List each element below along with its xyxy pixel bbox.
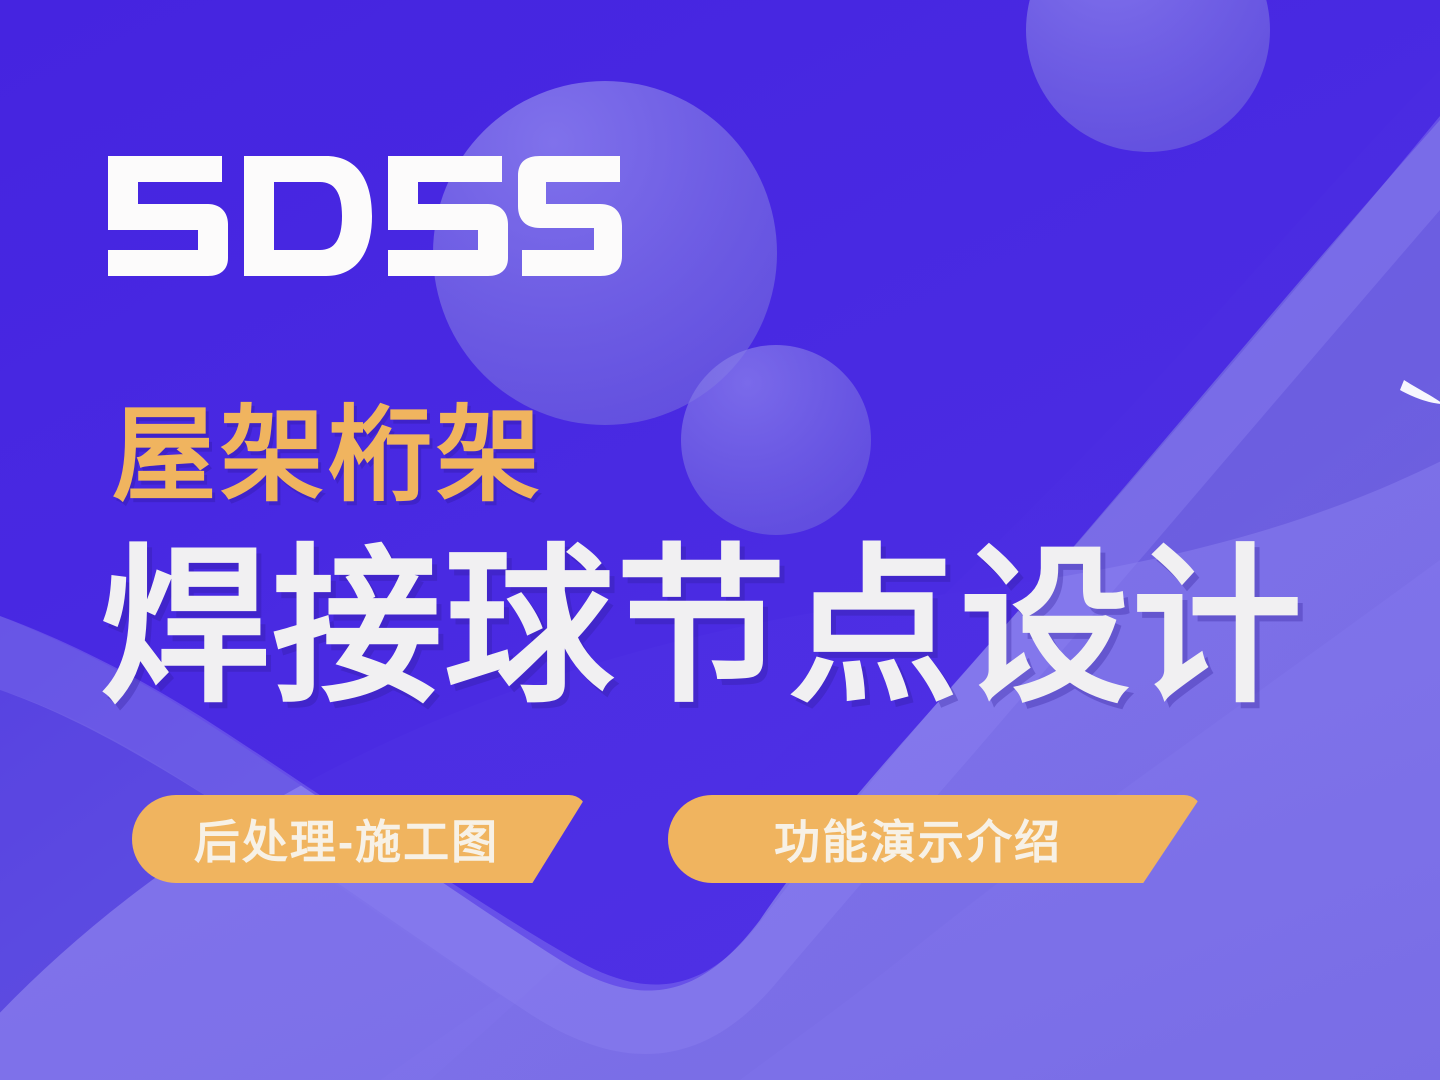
poster-tag-group: 后处理-施工图 功能演示介绍 <box>0 795 1440 895</box>
poster-subheadline: 屋架桁架 <box>112 404 544 508</box>
poster-content: 屋架桁架 焊接球节点设计 后处理-施工图 功能演示介绍 <box>0 0 1440 1080</box>
poster-canvas: 屋架桁架 焊接球节点设计 后处理-施工图 功能演示介绍 <box>0 0 1440 1080</box>
tag-feature-demo-intro[interactable]: 功能演示介绍 <box>668 795 1202 883</box>
tag-label: 功能演示介绍 <box>774 806 1062 872</box>
poster-headline: 焊接球节点设计 <box>100 543 1304 713</box>
tag-post-processing-drawing[interactable]: 后处理-施工图 <box>132 795 587 883</box>
tag-label: 后处理-施工图 <box>194 806 499 872</box>
brand-logo-icon <box>104 152 624 280</box>
brand-logo-3d3s <box>104 152 624 280</box>
